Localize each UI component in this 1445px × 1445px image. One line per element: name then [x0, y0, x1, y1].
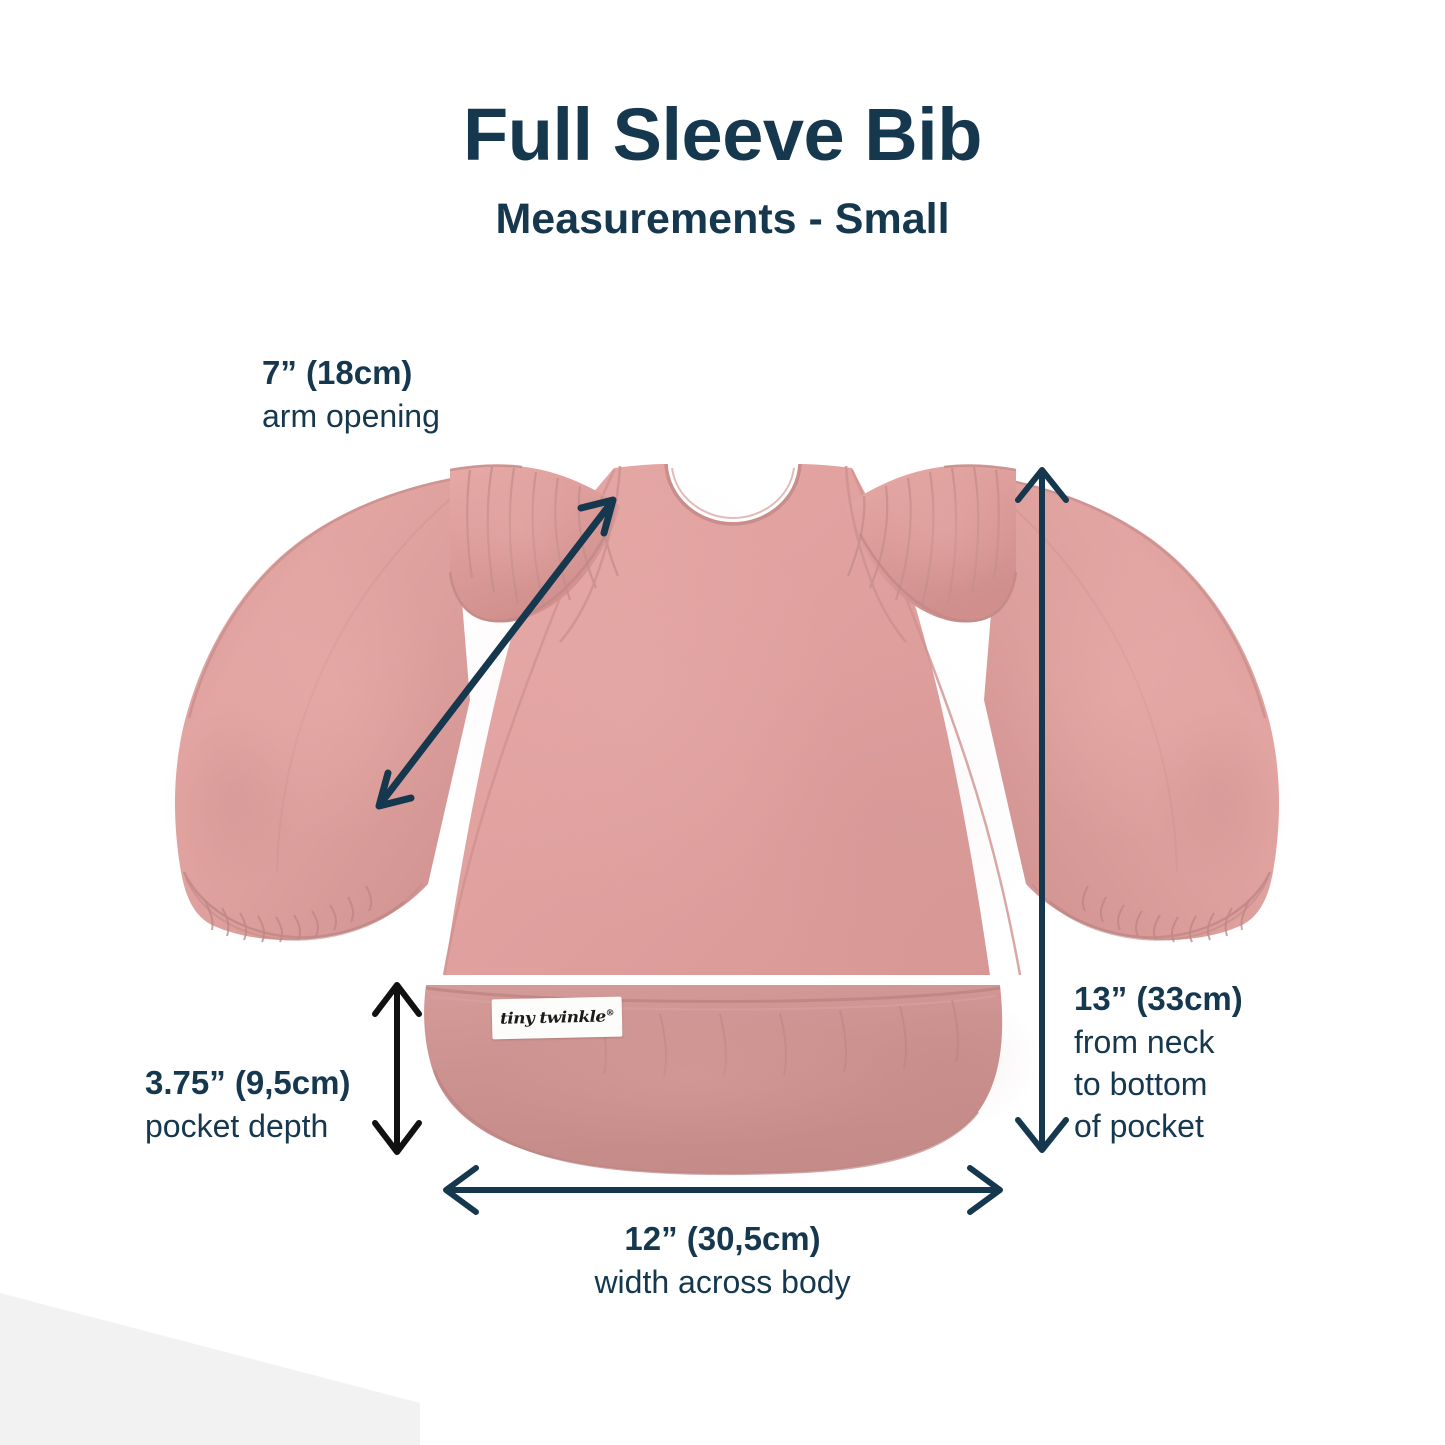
- pocket-depth-arrow: [375, 985, 419, 1152]
- measurement-diagram-page: Full Sleeve Bib Measurements - Small: [0, 0, 1445, 1445]
- callout-width-across-body: 12” (30,5cm) width across body: [0, 1218, 1445, 1303]
- pocket-depth-value: 3.75” (9,5cm): [145, 1062, 350, 1105]
- registered-mark: ®: [605, 1009, 614, 1018]
- arm-opening-description: arm opening: [262, 395, 440, 437]
- left-sleeve: [163, 478, 470, 942]
- width-across-body-value: 12” (30,5cm): [0, 1218, 1445, 1261]
- neck-to-pocket-description-line1: from neck: [1074, 1021, 1243, 1063]
- callout-neck-to-pocket: 13” (33cm) from neck to bottom of pocket: [1074, 978, 1243, 1148]
- right-sleeve: [984, 478, 1291, 942]
- neck-to-pocket-value: 13” (33cm): [1074, 978, 1243, 1021]
- neck-to-pocket-description-line3: of pocket: [1074, 1105, 1243, 1147]
- brand-tag: tiny twinkle®: [492, 997, 623, 1040]
- callout-pocket-depth: 3.75” (9,5cm) pocket depth: [145, 1062, 350, 1147]
- callout-arm-opening: 7” (18cm) arm opening: [262, 352, 440, 437]
- arm-opening-value: 7” (18cm): [262, 352, 440, 395]
- neck-to-pocket-description-line2: to bottom: [1074, 1063, 1243, 1105]
- brand-tag-text: tiny twinkle®: [500, 1008, 614, 1029]
- pocket-depth-description: pocket depth: [145, 1105, 350, 1147]
- width-across-body-description: width across body: [0, 1261, 1445, 1303]
